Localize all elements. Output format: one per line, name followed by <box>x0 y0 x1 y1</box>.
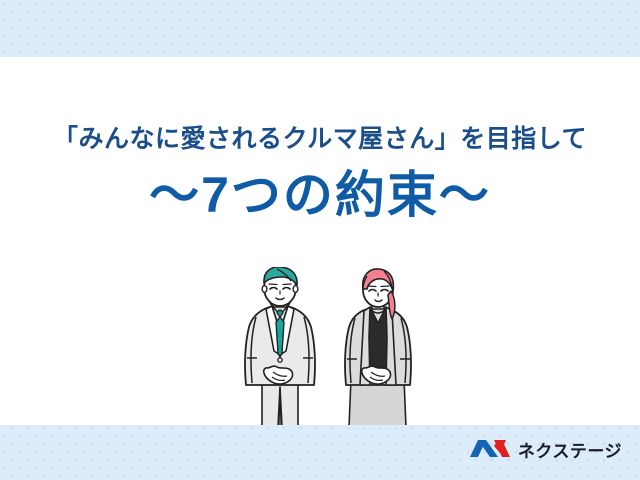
headline-block: 「みんなに愛されるクルマ屋さん」を目指して 〜7つの約束〜 <box>0 57 640 223</box>
subtitle-text: 「みんなに愛されるクルマ屋さん」を目指して <box>0 126 640 154</box>
male-staff-figure <box>245 267 315 425</box>
nextage-n-mark-icon <box>469 436 511 467</box>
slide-canvas: 「みんなに愛されるクルマ屋さん」を目指して 〜7つの約束〜 <box>0 0 640 480</box>
nextage-logo: ネクステージ <box>469 436 622 467</box>
nextage-logo-text: ネクステージ <box>518 443 622 460</box>
title-text: 〜7つの約束〜 <box>0 168 640 223</box>
female-staff-figure <box>345 269 411 425</box>
white-content-card: 「みんなに愛されるクルマ屋さん」を目指して 〜7つの約束〜 <box>0 57 640 425</box>
two-bowing-staff-illustration <box>236 267 426 425</box>
